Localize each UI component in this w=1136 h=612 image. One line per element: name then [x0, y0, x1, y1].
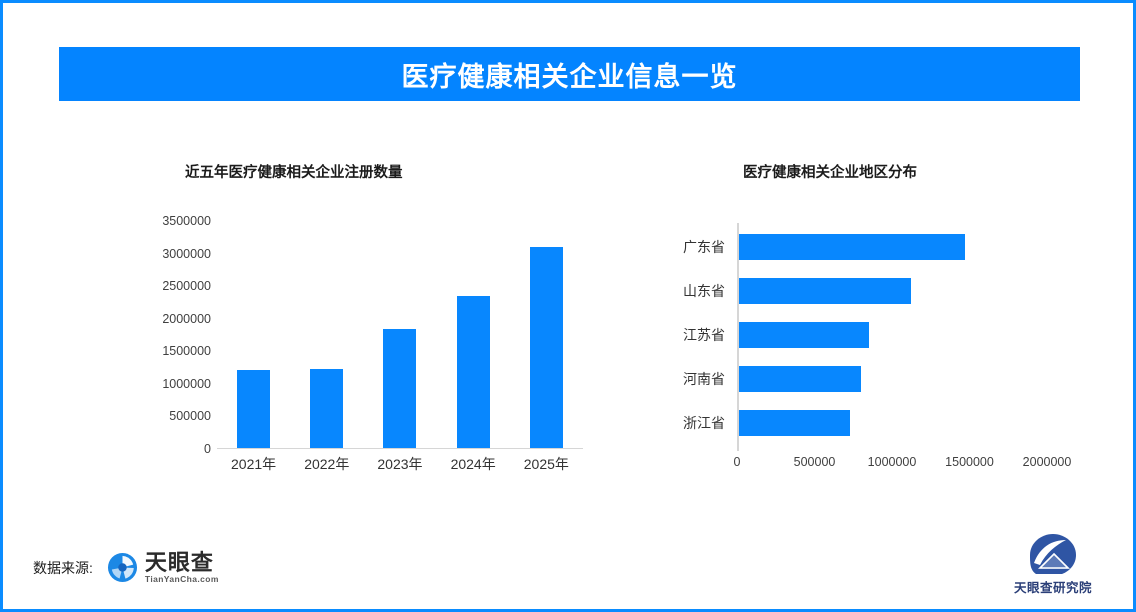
vertical-bar-slot	[363, 221, 436, 448]
x-axis-ticks: 0500000100000015000002000000	[737, 455, 1057, 475]
y-tick-label: 0	[204, 442, 211, 456]
vertical-bar[interactable]	[237, 370, 270, 448]
horizontal-bar-track	[737, 275, 1047, 307]
horizontal-bar-row: 浙江省	[645, 407, 1065, 439]
horizontal-bar[interactable]	[737, 234, 965, 260]
y-axis-line	[737, 223, 739, 451]
x-tick-label: 1000000	[868, 455, 917, 469]
region-label: 浙江省	[645, 413, 737, 433]
institute-name: 天眼查研究院	[1014, 577, 1092, 596]
chart-title-registrations: 近五年医疗健康相关企业注册数量	[185, 161, 603, 182]
brand-name-cn: 天眼查	[145, 551, 219, 574]
horizontal-bar[interactable]	[737, 322, 869, 348]
vertical-bars-plot-area	[217, 221, 583, 449]
x-tick-label: 2000000	[1023, 455, 1072, 469]
region-label: 江苏省	[645, 325, 737, 345]
x-axis-category-label: 2025年	[510, 454, 583, 474]
horizontal-bar-chart: 广东省山东省江苏省河南省浙江省 050000010000001500000200…	[645, 223, 1065, 483]
vertical-bar-chart: 3500000300000025000002000000150000010000…	[143, 221, 583, 481]
chart-panel-registrations: 近五年医疗健康相关企业注册数量 350000030000002500000200…	[63, 143, 603, 513]
x-tick-label: 1500000	[945, 455, 994, 469]
vertical-bar-slot	[437, 221, 510, 448]
y-tick-label: 2500000	[162, 279, 211, 293]
y-tick-label: 3000000	[162, 247, 211, 261]
vertical-bar-slot	[217, 221, 290, 448]
horizontal-bar[interactable]	[737, 410, 850, 436]
y-tick-label: 500000	[169, 409, 211, 423]
vertical-bar[interactable]	[383, 329, 416, 448]
horizontal-bar[interactable]	[737, 278, 911, 304]
horizontal-bar-track	[737, 319, 1047, 351]
vertical-bar-slot	[510, 221, 583, 448]
x-axis-category-label: 2023年	[363, 454, 436, 474]
region-label: 山东省	[645, 281, 737, 301]
x-axis-categories: 2021年2022年2023年2024年2025年	[217, 454, 583, 474]
page-title: 医疗健康相关企业信息一览	[402, 55, 738, 94]
chart-panel-regions: 医疗健康相关企业地区分布 广东省山东省江苏省河南省浙江省 05000001000…	[623, 143, 1093, 513]
x-axis-category-label: 2024年	[437, 454, 510, 474]
data-source-block: 数据来源: 天眼查 TianYanCha.com	[33, 551, 219, 584]
vertical-bar[interactable]	[530, 247, 563, 448]
x-tick-label: 500000	[794, 455, 836, 469]
chart-title-regions: 医疗健康相关企业地区分布	[743, 161, 1093, 182]
horizontal-bar-track	[737, 407, 1047, 439]
horizontal-bar-row: 广东省	[645, 231, 1065, 263]
institute-emblem-icon	[1026, 533, 1080, 575]
tianyancha-logo: 天眼查 TianYanCha.com	[107, 551, 219, 584]
vertical-bar[interactable]	[457, 296, 490, 448]
y-axis-ticks: 3500000300000025000002000000150000010000…	[143, 221, 211, 449]
vertical-bar-slot	[290, 221, 363, 448]
y-tick-label: 2000000	[162, 312, 211, 326]
x-axis-category-label: 2022年	[290, 454, 363, 474]
brand-name-en: TianYanCha.com	[145, 574, 219, 584]
tianyancha-wordmark: 天眼查 TianYanCha.com	[145, 551, 219, 584]
horizontal-bar-row: 江苏省	[645, 319, 1065, 351]
region-label: 河南省	[645, 369, 737, 389]
research-institute-logo: 天眼查研究院	[1003, 533, 1103, 596]
lens-icon	[107, 552, 138, 583]
y-tick-label: 3500000	[162, 214, 211, 228]
y-tick-label: 1000000	[162, 377, 211, 391]
horizontal-bar[interactable]	[737, 366, 861, 392]
horizontal-bar-row: 山东省	[645, 275, 1065, 307]
region-label: 广东省	[645, 237, 737, 257]
y-tick-label: 1500000	[162, 344, 211, 358]
infographic-page: 医疗健康相关企业信息一览 近五年医疗健康相关企业注册数量 35000003000…	[0, 0, 1136, 612]
horizontal-bar-track	[737, 363, 1047, 395]
x-tick-label: 0	[734, 455, 741, 469]
horizontal-bars-plot-area: 广东省山东省江苏省河南省浙江省	[645, 223, 1065, 445]
x-axis-category-label: 2021年	[217, 454, 290, 474]
horizontal-bar-row: 河南省	[645, 363, 1065, 395]
data-source-label: 数据来源:	[33, 558, 93, 578]
horizontal-bar-track	[737, 231, 1047, 263]
title-banner: 医疗健康相关企业信息一览	[59, 47, 1080, 101]
vertical-bar[interactable]	[310, 369, 343, 448]
